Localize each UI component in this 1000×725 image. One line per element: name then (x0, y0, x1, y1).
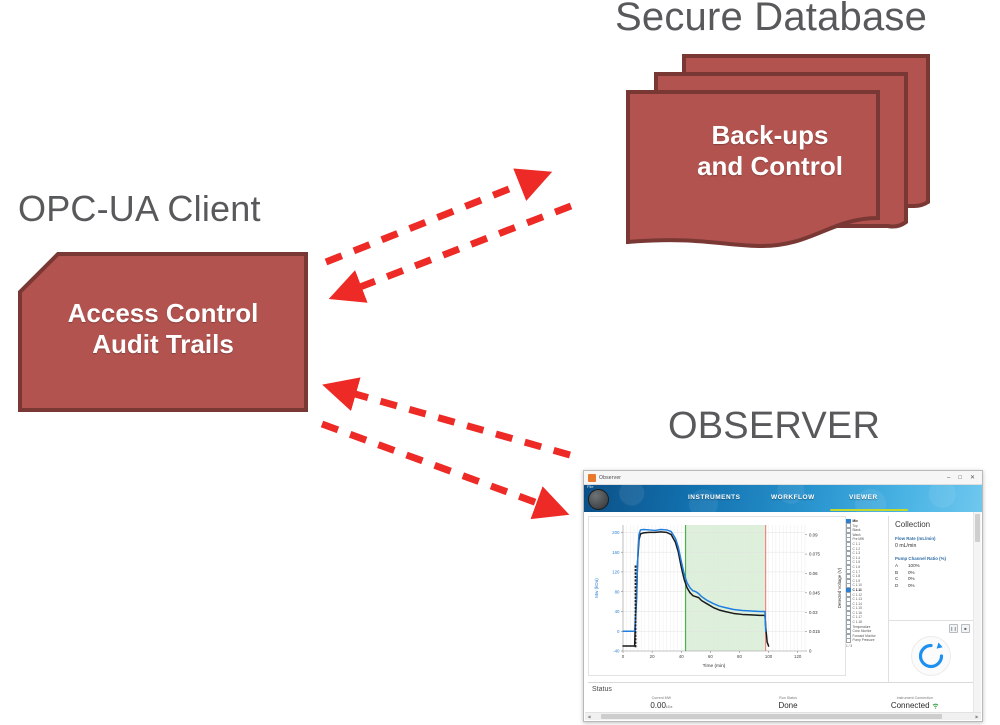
scroll-left-icon[interactable]: ◀ (585, 714, 593, 719)
scroll-right-icon[interactable]: ▶ (973, 714, 981, 719)
dotted-rise-mark (635, 566, 637, 568)
x-axis-label: Time (min) (703, 663, 726, 669)
pause-icon[interactable]: ❙❙ (949, 624, 958, 633)
run-control-strip: ❙❙ ■ (889, 620, 978, 681)
observer-title: OBSERVER (668, 405, 880, 448)
y2-tick-label: 0.06 (809, 571, 818, 576)
dotted-rise-mark (635, 607, 637, 609)
secure-database-title: Secure Database (615, 0, 927, 40)
horizontal-scrollbar-thumb[interactable] (601, 714, 942, 719)
refresh-icon[interactable] (911, 636, 951, 676)
run-control-buttons: ❙❙ ■ (949, 624, 970, 633)
x-tick-label: 120 (794, 654, 802, 659)
active-tab-indicator (830, 509, 908, 511)
window-controls: – □ ✕ (947, 475, 980, 481)
ribbon-tabbar: File INSTRUMENTS WORKFLOW VIEWER (584, 485, 982, 512)
arrow-database-to-client (347, 206, 571, 292)
observer-app-window[interactable]: Observer – □ ✕ File INSTRUMENTS WORKFLOW… (583, 470, 983, 722)
y-tick-label: 200 (612, 530, 620, 535)
dotted-rise-mark (635, 635, 637, 637)
y2-tick-label: 0 (809, 649, 812, 654)
y2-tick-label: 0.03 (809, 610, 818, 615)
y2-tick-label: 0.045 (809, 590, 821, 595)
content-row: 020406080100120Time (min)-40040801201602… (588, 516, 978, 682)
dotted-rise-mark (635, 631, 637, 633)
status-columns: Current MW0.00kDaRun StatusDoneInstrumen… (588, 696, 978, 713)
dotted-rise-mark (635, 593, 637, 595)
y-axis-label: Mw (kDa) (594, 578, 599, 598)
wifi-icon (932, 703, 939, 709)
x-tick-label: 80 (737, 654, 742, 659)
y-tick-label: 80 (615, 589, 620, 594)
dotted-rise-mark (635, 621, 637, 623)
maximize-icon[interactable]: □ (958, 475, 962, 481)
db-sheet-front (628, 92, 878, 246)
legend-item[interactable]: Pump Pressure (846, 638, 888, 643)
legend-item-label: Pump Pressure (853, 638, 875, 643)
pump-ratio-label: Pump Channel Ratio (%) (895, 556, 978, 561)
x-tick-label: 20 (650, 654, 655, 659)
dotted-rise-mark (635, 604, 637, 606)
window-titlebar: Observer – □ ✕ (584, 471, 982, 485)
collection-panel: Collection Flow Rate (mL/min) 0 mL/min P… (888, 516, 978, 682)
dotted-rise-mark (635, 586, 637, 588)
status-field: Instrument ConnectionConnected (851, 696, 978, 713)
collection-region (686, 525, 766, 651)
y-tick-label: 40 (615, 609, 620, 614)
dotted-rise-mark (635, 614, 637, 616)
pump-channel-name: D (895, 583, 908, 590)
vertical-scrollbar-thumb[interactable] (975, 514, 980, 542)
file-menu-button[interactable]: File (587, 485, 593, 489)
status-field-unit: kDa (666, 705, 672, 709)
dotted-rise-mark (635, 642, 637, 644)
collection-title: Collection (895, 520, 978, 529)
legend-checkbox-icon[interactable] (846, 638, 851, 643)
minimize-icon[interactable]: – (947, 475, 950, 481)
tab-instruments[interactable]: INSTRUMENTS (688, 494, 740, 501)
x-tick-label: 0 (622, 654, 625, 659)
dotted-rise-mark (635, 624, 637, 626)
arrow-observer-to-client (341, 390, 570, 455)
y2-tick-label: 0.075 (809, 552, 821, 557)
flow-rate-value: 0 mL/min (895, 543, 978, 549)
legend-pager[interactable]: 1 / 3 (846, 644, 888, 649)
app-body: 020406080100120Time (min)-40040801201602… (584, 512, 982, 722)
window-title: Observer (599, 475, 621, 481)
arrow-client-to-observer (322, 424, 551, 508)
status-field-value: Connected (851, 700, 978, 711)
status-field-value: Done (725, 700, 852, 711)
secure-database-shape[interactable] (622, 50, 934, 250)
x-tick-label: 60 (708, 654, 713, 659)
x-tick-label: 40 (679, 654, 684, 659)
x-tick-label: 100 (765, 654, 773, 659)
y2-tick-label: 0.09 (809, 532, 818, 537)
status-title: Status (592, 686, 978, 693)
dotted-rise-mark (635, 572, 637, 574)
dotted-rise-mark (635, 617, 637, 619)
close-icon[interactable]: ✕ (970, 475, 975, 481)
status-field: Run StatusDone (725, 696, 852, 713)
opc-ua-client-shape[interactable] (14, 250, 312, 415)
tab-workflow[interactable]: WORKFLOW (771, 494, 815, 501)
pump-ratio-row: D0% (895, 583, 978, 590)
dotted-rise-mark (635, 569, 637, 571)
dotted-rise-mark (635, 610, 637, 612)
dotted-rise-mark (635, 597, 637, 599)
pump-channel-value: 0% (908, 583, 930, 590)
chart-svg: 020406080100120Time (min)-40040801201602… (589, 517, 845, 675)
app-logo-icon (588, 474, 596, 482)
diagram-canvas: Secure Database OPC-UA Client OBSERVER B… (0, 0, 1000, 725)
status-field: Current MW0.00kDa (598, 696, 725, 713)
arrow-client-to-database (326, 179, 534, 262)
opc-ua-client-title: OPC-UA Client (18, 188, 261, 230)
dotted-rise-mark (635, 628, 637, 630)
y-tick-label: 0 (617, 629, 620, 634)
y-tick-label: 120 (612, 570, 620, 575)
chart-legend[interactable]: MixTopBlankWashPre MWC 1.1C 1.2C 1.3C 1.… (846, 516, 888, 682)
chromatogram-chart[interactable]: 020406080100120Time (min)-40040801201602… (588, 516, 846, 676)
y2-tick-label: 0.015 (809, 629, 821, 634)
vertical-scrollbar[interactable] (973, 512, 981, 712)
y-tick-label: 160 (612, 550, 620, 555)
ribbon-logo-icon (588, 489, 609, 510)
dotted-rise-mark (635, 583, 637, 585)
flow-rate-label: Flow Rate (mL/min) (895, 536, 978, 541)
dotted-rise-mark (635, 638, 637, 640)
dotted-rise-mark (635, 579, 637, 581)
horizontal-scrollbar[interactable]: ◀ ▶ (585, 712, 981, 720)
dotted-rise-mark (635, 645, 637, 647)
y-tick-label: -40 (613, 649, 620, 654)
dotted-rise-mark (635, 576, 637, 578)
dotted-rise-mark (635, 600, 637, 602)
dotted-rise-mark (635, 590, 637, 592)
pump-ratio-table: A100%B0%C0%D0% (895, 563, 978, 589)
stop-icon[interactable]: ■ (961, 624, 970, 633)
y2-axis-label: Detected Voltage (V) (837, 567, 842, 608)
tab-viewer[interactable]: VIEWER (849, 494, 878, 501)
